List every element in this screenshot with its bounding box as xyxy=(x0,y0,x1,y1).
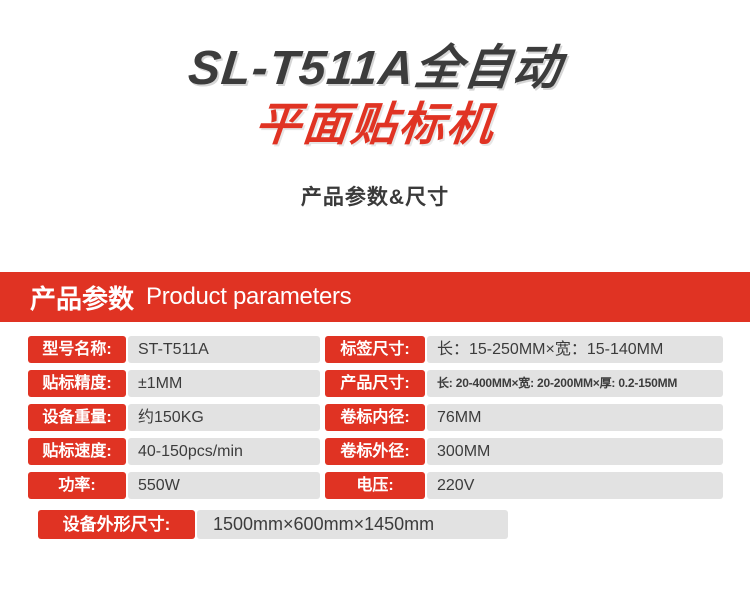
spec-cell-voltage: 电压: 220V xyxy=(325,472,723,499)
table-row: 型号名称: ST-T511A 标签尺寸: 长：15-250MM×宽：15-140… xyxy=(0,336,750,363)
page-subtitle: 产品参数&尺寸 xyxy=(0,181,750,211)
spec-value: 长: 20-400MM×宽: 20-200MM×厚: 0.2-150MM xyxy=(427,370,723,397)
spec-label: 卷标外径: xyxy=(325,438,425,465)
spec-label: 电压: xyxy=(325,472,425,499)
spec-value: 40-150pcs/min xyxy=(128,438,320,465)
spec-cell-label-size: 标签尺寸: 长：15-250MM×宽：15-140MM xyxy=(325,336,723,363)
product-title-secondary: 平面贴标机 xyxy=(0,100,750,148)
spec-label: 设备重量: xyxy=(28,404,126,431)
section-header-title-cn: 产品参数 xyxy=(30,279,134,316)
spec-cell-labeling-accuracy: 贴标精度: ±1MM xyxy=(28,370,320,397)
spec-value: 220V xyxy=(427,472,723,499)
section-header-title-en: Product parameters xyxy=(146,283,351,311)
spec-row-list: 型号名称: ST-T511A 标签尺寸: 长：15-250MM×宽：15-140… xyxy=(0,336,750,499)
table-row: 功率: 550W 电压: 220V xyxy=(0,472,750,499)
spec-cell-labeling-speed: 贴标速度: 40-150pcs/min xyxy=(28,438,320,465)
spec-value: 约150KG xyxy=(128,404,320,431)
spec-label: 卷标内径: xyxy=(325,404,425,431)
hero-title-block: SL-T511A全自动 平面贴标机 产品参数&尺寸 xyxy=(0,0,750,211)
spec-cell-machine-dimensions: 设备外形尺寸: 1500mm×600mm×1450mm xyxy=(38,510,508,539)
specification-table: 型号名称: ST-T511A 标签尺寸: 长：15-250MM×宽：15-140… xyxy=(0,336,750,539)
spec-value: 76MM xyxy=(427,404,723,431)
spec-label: 设备外形尺寸: xyxy=(38,510,195,539)
spec-label: 标签尺寸: xyxy=(325,336,425,363)
spec-value: ST-T511A xyxy=(128,336,320,363)
spec-value: 300MM xyxy=(427,438,723,465)
spec-cell-product-size: 产品尺寸: 长: 20-400MM×宽: 20-200MM×厚: 0.2-150… xyxy=(325,370,723,397)
spec-label: 功率: xyxy=(28,472,126,499)
table-row: 贴标速度: 40-150pcs/min 卷标外径: 300MM xyxy=(0,438,750,465)
product-title-primary: SL-T511A全自动 xyxy=(0,44,750,94)
spec-cell-roll-outer-diameter: 卷标外径: 300MM xyxy=(325,438,723,465)
section-header-bar: 产品参数 Product parameters xyxy=(0,272,750,322)
spec-value: 1500mm×600mm×1450mm xyxy=(197,510,508,539)
spec-value: 550W xyxy=(128,472,320,499)
table-row: 设备重量: 约150KG 卷标内径: 76MM xyxy=(0,404,750,431)
spec-value: ±1MM xyxy=(128,370,320,397)
spec-cell-power: 功率: 550W xyxy=(28,472,320,499)
spec-label: 贴标精度: xyxy=(28,370,126,397)
spec-cell-model-name: 型号名称: ST-T511A xyxy=(28,336,320,363)
spec-cell-machine-weight: 设备重量: 约150KG xyxy=(28,404,320,431)
spec-label: 产品尺寸: xyxy=(325,370,425,397)
spec-label: 型号名称: xyxy=(28,336,126,363)
spec-label: 贴标速度: xyxy=(28,438,126,465)
spec-cell-roll-inner-diameter: 卷标内径: 76MM xyxy=(325,404,723,431)
spec-value: 长：15-250MM×宽：15-140MM xyxy=(427,336,723,363)
table-row: 贴标精度: ±1MM 产品尺寸: 长: 20-400MM×宽: 20-200MM… xyxy=(0,370,750,397)
